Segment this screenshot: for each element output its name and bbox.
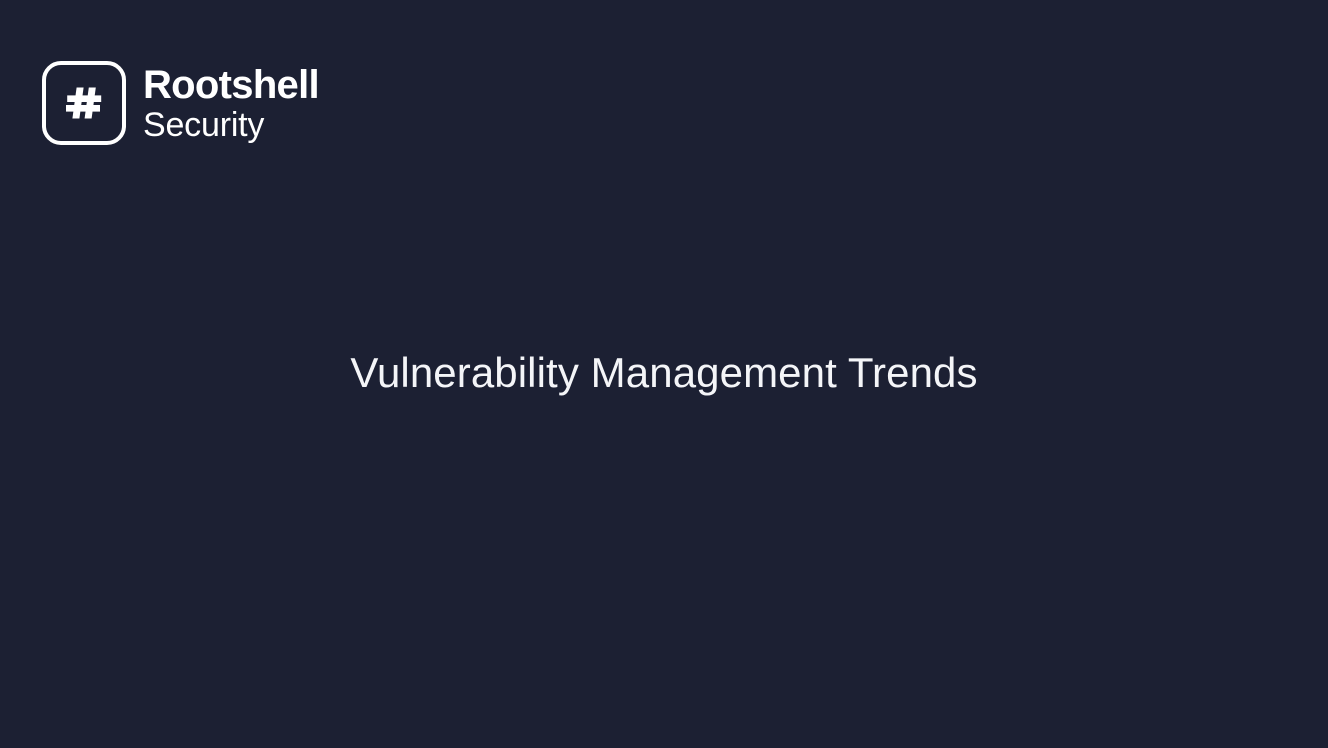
brand-logo: Rootshell Security (42, 61, 319, 145)
brand-name: Rootshell (143, 63, 319, 107)
page-title: Vulnerability Management Trends (0, 348, 1328, 398)
logo-mark-frame (42, 61, 126, 145)
slide-canvas: Rootshell Security Vulnerability Managem… (0, 0, 1328, 748)
hash-icon (63, 82, 105, 124)
logo-wordmark: Rootshell Security (143, 61, 319, 144)
brand-tagline: Security (143, 106, 319, 144)
